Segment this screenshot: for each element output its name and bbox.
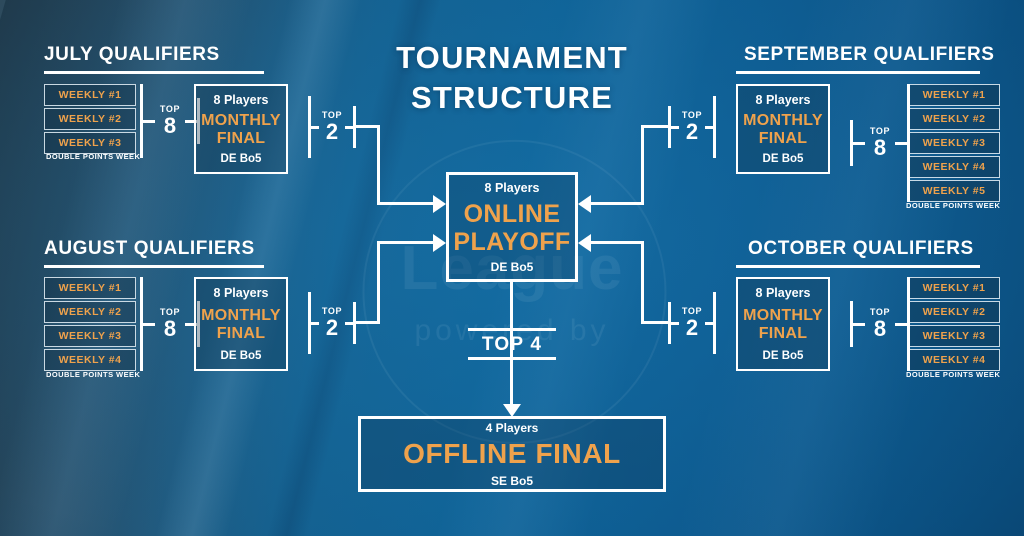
bracket-label-value: 2: [679, 121, 705, 143]
bracket-top2-july: TOP 2: [308, 96, 356, 158]
double-points-week-label-september: DOUBLE POINTS WEEK: [906, 201, 1000, 210]
monthly-final-name-line1: MONTHLY: [201, 307, 281, 324]
monthly-final-box-october[interactable]: 8 Players MONTHLY FINAL DE Bo5: [736, 277, 830, 371]
weekly-chip-august-3[interactable]: WEEKLY #3: [44, 325, 136, 347]
connector-october-h2: [589, 241, 644, 244]
bracket-line-left: [311, 322, 319, 325]
bracket-label: TOP 8: [155, 105, 185, 137]
monthly-final-name-line1: MONTHLY: [743, 112, 823, 129]
connector-august-h2: [377, 241, 435, 244]
bracket-line-left: [671, 126, 679, 129]
bracket-label-value: 2: [679, 317, 705, 339]
section-rule-september: [736, 71, 980, 74]
monthly-final-name-line2: FINAL: [759, 325, 808, 342]
online-playoff-box[interactable]: 8 Players ONLINE PLAYOFF DE Bo5: [446, 172, 578, 282]
offline-final-format: SE Bo5: [491, 474, 533, 488]
bracket-label-value: 2: [319, 317, 345, 339]
monthly-final-name: MONTHLY FINAL: [201, 307, 281, 344]
connector-july-v: [377, 125, 380, 205]
bracket-label: TOP 2: [319, 111, 345, 143]
connector-august-h1: [353, 321, 380, 324]
monthly-final-name: MONTHLY FINAL: [201, 112, 281, 149]
bracket-label: TOP 8: [155, 308, 185, 340]
weekly-chip-october-2[interactable]: WEEKLY #2: [908, 301, 1000, 323]
top4-label: TOP 4: [468, 334, 556, 356]
section-heading-september: SEPTEMBER QUALIFIERS: [744, 44, 995, 66]
weekly-chip-october-3[interactable]: WEEKLY #3: [908, 325, 1000, 347]
offline-final-name: OFFLINE FINAL: [403, 438, 621, 470]
bracket-line-right: [895, 323, 907, 326]
monthly-final-players: 8 Players: [756, 286, 811, 300]
weekly-chip-july-3[interactable]: WEEKLY #3: [44, 132, 136, 154]
bracket-label: TOP 8: [865, 127, 895, 159]
section-rule-august: [44, 265, 264, 268]
double-points-week-label-august: DOUBLE POINTS WEEK: [46, 370, 140, 379]
weekly-chip-october-1[interactable]: WEEKLY #1: [908, 277, 1000, 299]
weekly-chip-october-4[interactable]: WEEKLY #4: [908, 349, 1000, 371]
bracket-bar-left: [850, 120, 853, 166]
bracket-bar-right: [713, 96, 716, 158]
monthly-final-name: MONTHLY FINAL: [743, 307, 823, 344]
bracket-line-right: [345, 126, 353, 129]
connector-october-v: [641, 241, 644, 324]
top4-rule-bottom: [468, 357, 556, 360]
bracket-bar-left: [668, 106, 671, 148]
connector-october-h1: [641, 321, 668, 324]
arrow-into-playoff-august: [433, 234, 446, 252]
monthly-final-format: DE Bo5: [221, 153, 262, 165]
bracket-line-right: [705, 322, 713, 325]
double-points-week-label-october: DOUBLE POINTS WEEK: [906, 370, 1000, 379]
weekly-chip-july-1[interactable]: WEEKLY #1: [44, 84, 136, 106]
bracket-label: TOP 2: [679, 111, 705, 143]
offline-final-box[interactable]: 4 Players OFFLINE FINAL SE Bo5: [358, 416, 666, 492]
section-rule-july: [44, 71, 264, 74]
connector-july-h1: [353, 125, 380, 128]
bracket-bar-right: [713, 292, 716, 354]
online-playoff-name: ONLINE PLAYOFF: [453, 200, 570, 256]
arrow-into-playoff-october: [578, 234, 591, 252]
monthly-final-name: MONTHLY FINAL: [743, 112, 823, 149]
bracket-top8-october: TOP 8: [848, 277, 910, 371]
bracket-line-left: [143, 120, 155, 123]
monthly-final-box-august[interactable]: 8 Players MONTHLY FINAL DE Bo5: [194, 277, 288, 371]
bracket-line-left: [671, 322, 679, 325]
page-title: TOURNAMENT STRUCTURE: [362, 38, 662, 117]
weekly-chip-september-2[interactable]: WEEKLY #2: [908, 108, 1000, 130]
bracket-label-value: 8: [155, 318, 185, 340]
bracket-line-right: [895, 142, 907, 145]
weekly-chip-august-4[interactable]: WEEKLY #4: [44, 349, 136, 371]
bracket-top2-september: TOP 2: [668, 96, 716, 158]
bracket-top8-august: TOP 8: [140, 277, 202, 371]
monthly-final-name-line2: FINAL: [217, 325, 266, 342]
section-heading-october: OCTOBER QUALIFIERS: [748, 238, 974, 260]
weekly-chip-september-4[interactable]: WEEKLY #4: [908, 156, 1000, 178]
bracket-label: TOP 2: [319, 307, 345, 339]
double-points-week-label-july: DOUBLE POINTS WEEK: [46, 152, 140, 161]
connector-september-h2: [589, 202, 644, 205]
bracket-top2-august: TOP 2: [308, 292, 356, 354]
connector-august-v: [377, 241, 380, 324]
bracket-label-value: 8: [155, 115, 185, 137]
bracket-top8-july: TOP 8: [140, 84, 202, 158]
weekly-chip-july-2[interactable]: WEEKLY #2: [44, 108, 136, 130]
bracket-label-value: 8: [865, 137, 895, 159]
monthly-final-players: 8 Players: [214, 93, 269, 107]
online-playoff-name-line1: ONLINE: [464, 200, 561, 228]
section-heading-august: AUGUST QUALIFIERS: [44, 238, 255, 260]
top4-rule-top: [468, 328, 556, 331]
weekly-chip-september-1[interactable]: WEEKLY #1: [908, 84, 1000, 106]
monthly-final-name-line2: FINAL: [759, 130, 808, 147]
bracket-bar-left: [850, 301, 853, 347]
arrow-into-playoff-september: [578, 195, 591, 213]
online-playoff-players: 8 Players: [485, 181, 540, 195]
monthly-final-box-september[interactable]: 8 Players MONTHLY FINAL DE Bo5: [736, 84, 830, 174]
monthly-final-format: DE Bo5: [221, 350, 262, 362]
tournament-structure-infographic: League powered by TOURNAMENT STRUCTURE J…: [0, 0, 1024, 536]
monthly-final-name-line1: MONTHLY: [743, 307, 823, 324]
title-line2: STRUCTURE: [411, 80, 613, 115]
bracket-label: TOP 8: [865, 308, 895, 340]
bracket-bar-left: [668, 302, 671, 344]
bracket-line-left: [311, 126, 319, 129]
bracket-line-left: [143, 323, 155, 326]
bracket-label-value: 2: [319, 121, 345, 143]
monthly-final-players: 8 Players: [756, 93, 811, 107]
bracket-label: TOP 2: [679, 307, 705, 339]
weekly-chip-september-3[interactable]: WEEKLY #3: [908, 132, 1000, 154]
monthly-final-name-line1: MONTHLY: [201, 112, 281, 129]
section-heading-july: JULY QUALIFIERS: [44, 44, 220, 66]
online-playoff-name-line2: PLAYOFF: [453, 228, 570, 256]
bracket-top8-september: TOP 8: [848, 84, 910, 202]
bracket-line-right: [345, 322, 353, 325]
bracket-top2-october: TOP 2: [668, 292, 716, 354]
section-rule-october: [736, 265, 980, 268]
bracket-line-right: [705, 126, 713, 129]
monthly-final-format: DE Bo5: [763, 153, 804, 165]
weekly-chip-august-1[interactable]: WEEKLY #1: [44, 277, 136, 299]
monthly-final-name-line2: FINAL: [217, 130, 266, 147]
arrow-into-playoff-july: [433, 195, 446, 213]
connector-july-h2: [377, 202, 435, 205]
weekly-chip-september-5[interactable]: WEEKLY #5: [908, 180, 1000, 202]
bracket-bar-right: [907, 84, 910, 202]
title-line1: TOURNAMENT: [396, 40, 628, 75]
bracket-label-value: 8: [865, 318, 895, 340]
weekly-chip-august-2[interactable]: WEEKLY #2: [44, 301, 136, 323]
offline-final-players: 4 Players: [486, 421, 539, 435]
bracket-line-left: [853, 142, 865, 145]
bracket-bar-right: [907, 277, 910, 371]
monthly-final-format: DE Bo5: [763, 350, 804, 362]
bracket-line-left: [853, 323, 865, 326]
online-playoff-format: DE Bo5: [491, 260, 534, 274]
connector-september-h1: [641, 125, 668, 128]
connector-september-v: [641, 125, 644, 205]
monthly-final-box-july[interactable]: 8 Players MONTHLY FINAL DE Bo5: [194, 84, 288, 174]
monthly-final-players: 8 Players: [214, 286, 269, 300]
